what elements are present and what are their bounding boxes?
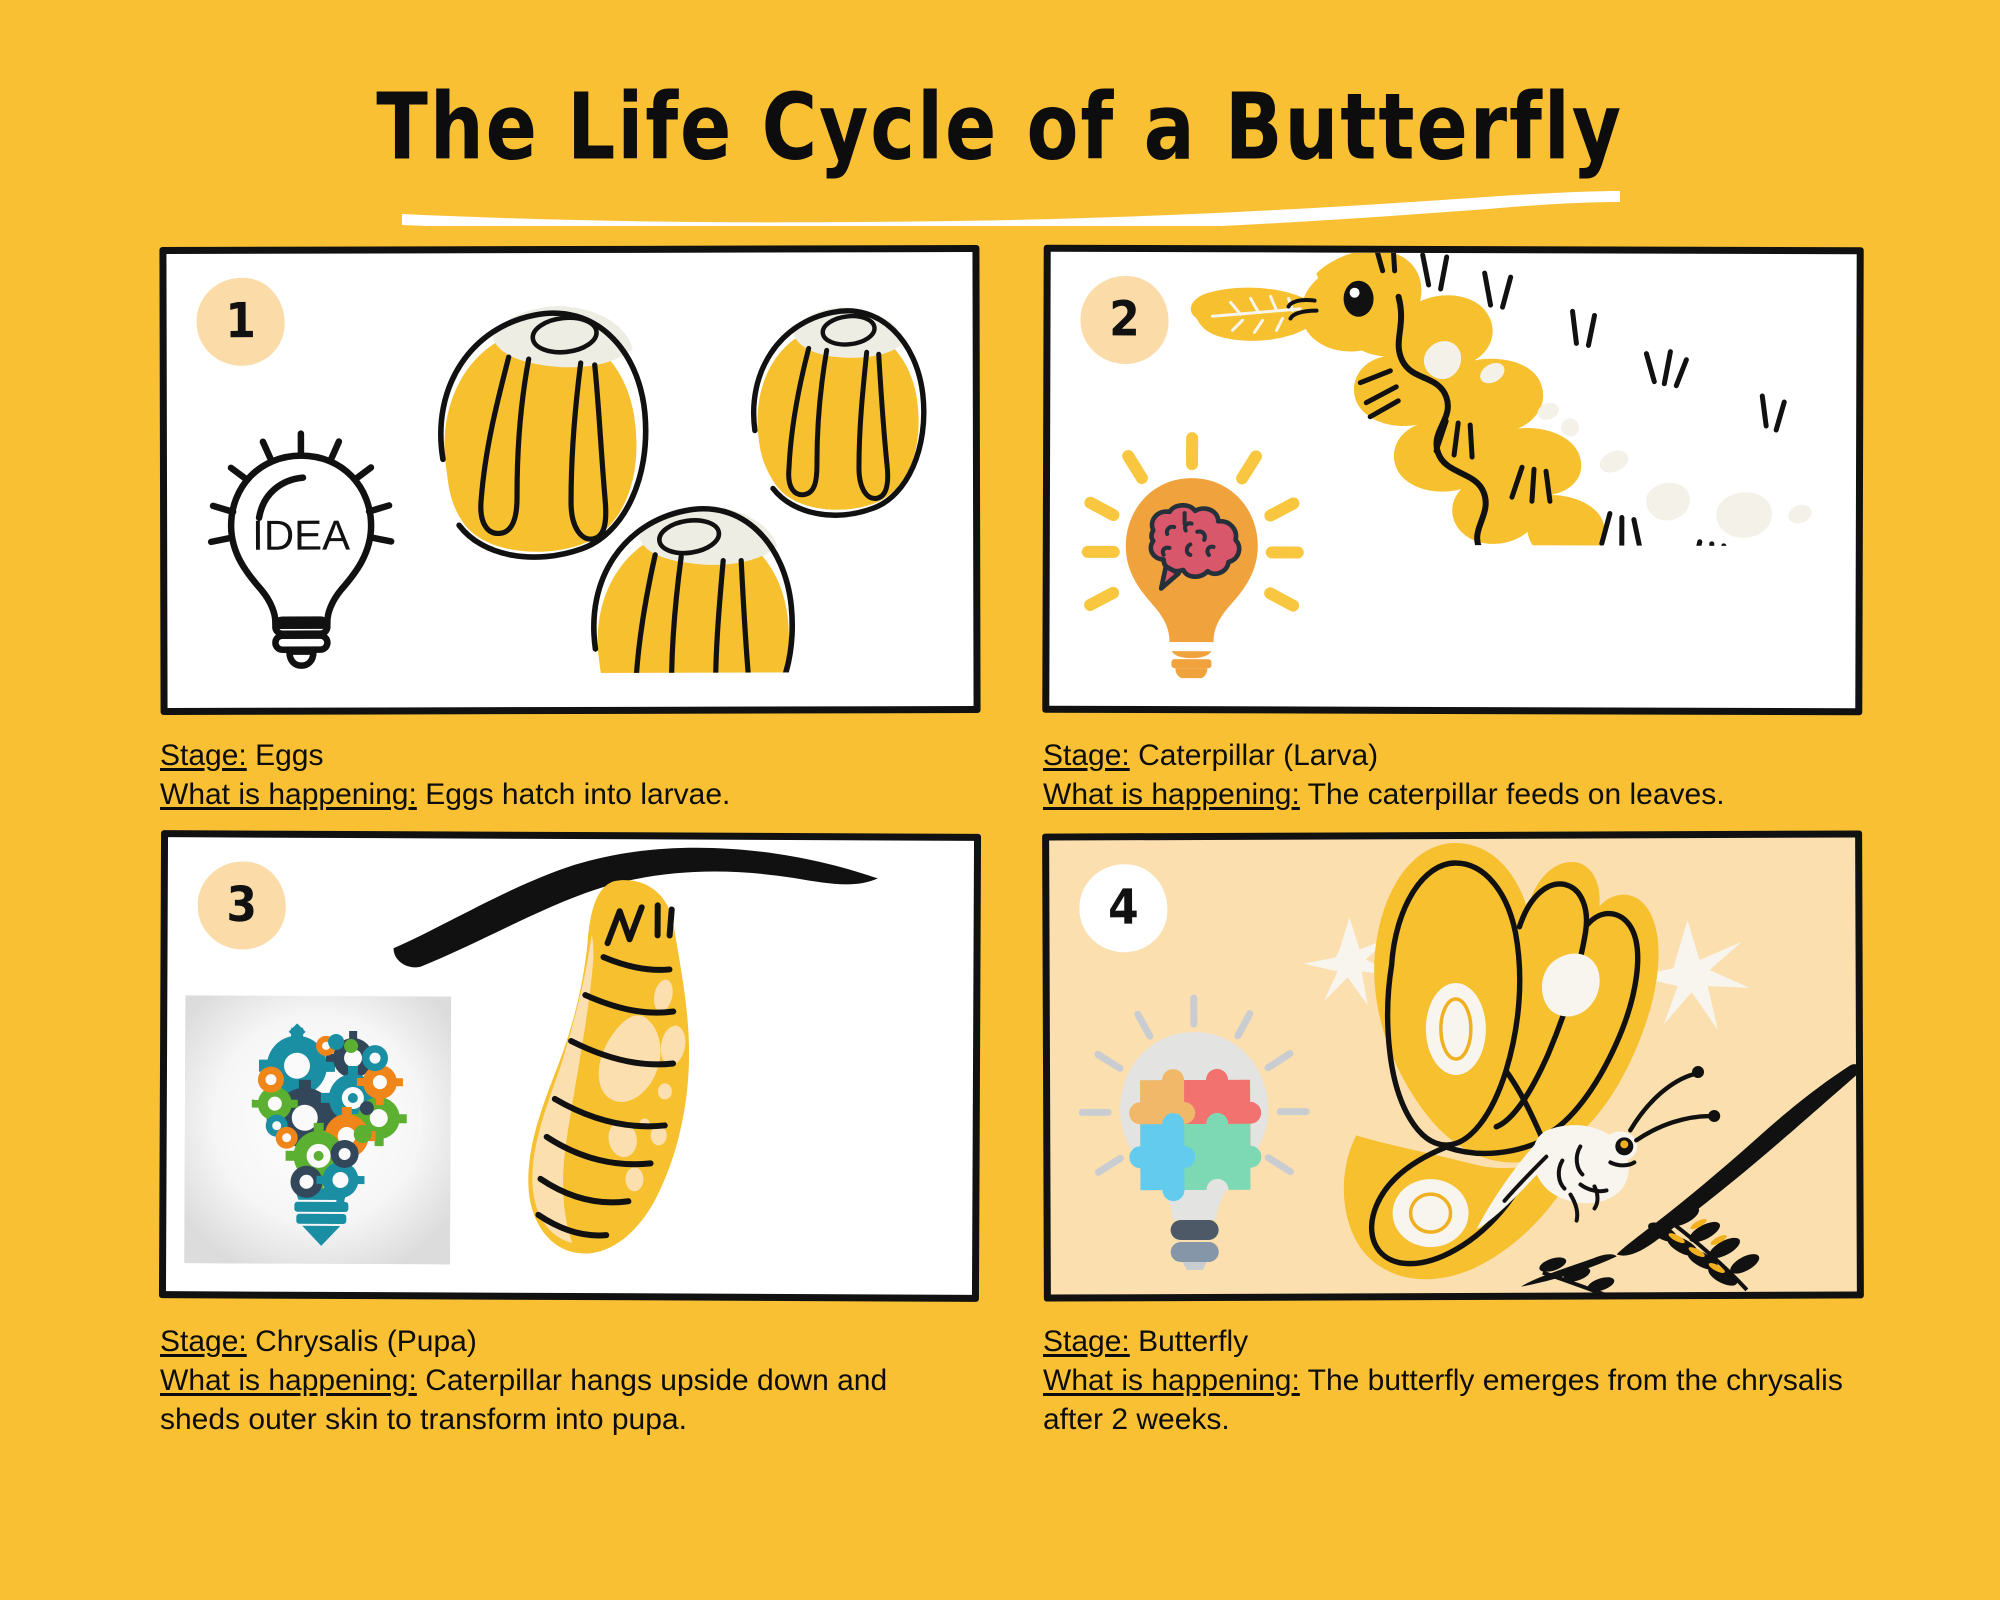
- stage-caption-3: Stage: Chrysalis (Pupa) What is happenin…: [160, 1322, 960, 1439]
- happening-label-2: What is happening:: [1043, 778, 1300, 811]
- butterfly-illustration: [1279, 837, 1857, 1294]
- title-underline-stroke: [396, 188, 1626, 226]
- gears-lightbulb-image: [184, 995, 451, 1264]
- page-title: The Life Cycle of a Butterfly: [377, 82, 1624, 174]
- panel-number-badge-3: 3: [198, 861, 286, 949]
- stage-panel-2[interactable]: 2: [1042, 245, 1863, 716]
- panel-number-4: 4: [1108, 884, 1139, 933]
- stage-cell-2: 2 Stage: Caterpillar (Larva) What is hap…: [1043, 246, 1863, 814]
- idea-bulb-text: IDEA: [252, 512, 350, 559]
- stage-caption-1: Stage: Eggs What is happening: Eggs hatc…: [160, 736, 960, 814]
- stage-value-1: Eggs: [255, 739, 323, 772]
- stage-panel-1[interactable]: IDEA 1: [159, 245, 980, 715]
- panel-grid: IDEA 1 Stage: Eggs What is happening: Eg…: [0, 246, 2000, 1526]
- stage-value-3: Chrysalis (Pupa): [255, 1325, 477, 1358]
- stage-label-2: Stage:: [1043, 739, 1130, 772]
- stage-value-4: Butterfly: [1138, 1325, 1248, 1358]
- happening-label-1: What is happening:: [160, 778, 417, 811]
- page-title-wrap: The Life Cycle of a Butterfly: [0, 96, 2000, 174]
- happening-label-4: What is happening:: [1043, 1364, 1300, 1397]
- stage-panel-3[interactable]: 3: [159, 830, 981, 1302]
- puzzle-lightbulb-icon: [1076, 992, 1313, 1271]
- panel-number-badge-4: 4: [1079, 864, 1167, 952]
- panel-number-badge-2: 2: [1080, 276, 1168, 364]
- panel-number-1: 1: [225, 298, 256, 346]
- stage-cell-4: 4 Stage: Butterfly What is happening: Th…: [1043, 832, 1863, 1439]
- stage-value-2: Caterpillar (Larva): [1138, 739, 1378, 772]
- fern-leaf-icon: [1537, 1202, 1762, 1294]
- panel-number-2: 2: [1109, 296, 1140, 344]
- stage-caption-4: Stage: Butterfly What is happening: The …: [1043, 1322, 1843, 1439]
- panel-number-badge-1: 1: [197, 278, 285, 366]
- stage-label-4: Stage:: [1043, 1325, 1130, 1358]
- idea-lightbulb-icon: IDEA: [197, 421, 408, 672]
- happening-value-1: Eggs hatch into larvae.: [425, 778, 730, 811]
- stage-panel-4[interactable]: 4: [1042, 830, 1864, 1301]
- stage-cell-1: IDEA 1 Stage: Eggs What is happening: Eg…: [160, 246, 980, 814]
- stage-label-1: Stage:: [160, 739, 247, 772]
- stage-cell-3: 3 Stage: Chrysalis (Pupa) What is happen…: [160, 832, 980, 1439]
- happening-label-3: What is happening:: [160, 1364, 417, 1397]
- stage-caption-2: Stage: Caterpillar (Larva) What is happe…: [1043, 736, 1843, 814]
- chrysalis-illustration: [376, 838, 898, 1295]
- happening-value-2: The caterpillar feeds on leaves.: [1308, 778, 1725, 811]
- panel-number-3: 3: [226, 881, 257, 930]
- stage-label-3: Stage:: [160, 1325, 247, 1358]
- butterfly-eggs-illustration: [326, 252, 967, 674]
- brain-lightbulb-icon: [1075, 428, 1306, 679]
